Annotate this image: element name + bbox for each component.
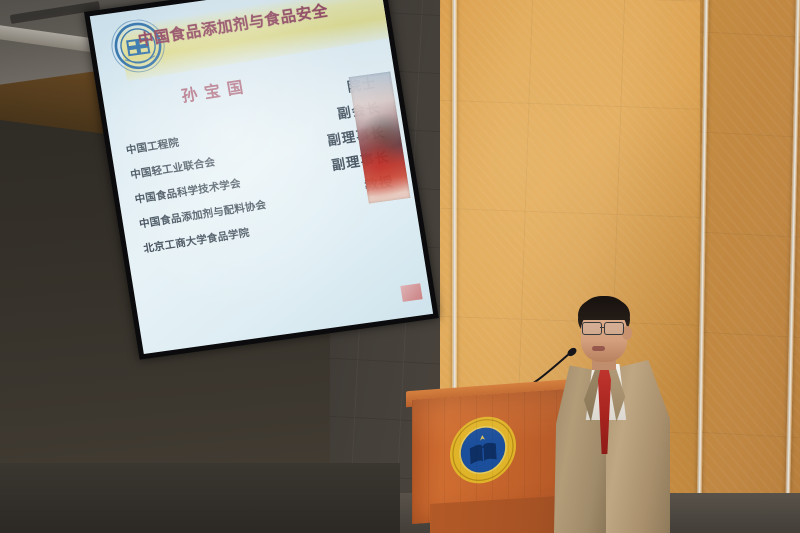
projection-screen: 中国食品添加剂与食品安全 孙宝国 中国工程院 中国轻工业联合会 中国食品科学技术… — [84, 0, 439, 360]
slide-corner-badge — [400, 283, 422, 302]
credentials-organizations: 中国工程院 中国轻工业联合会 中国食品科学技术学会 中国食品添加剂与配料协会 北… — [125, 118, 305, 266]
speaker-figure — [548, 296, 676, 533]
speaker-mouth — [592, 346, 605, 351]
slide-surface: 中国食品添加剂与食品安全 孙宝国 中国工程院 中国轻工业联合会 中国食品科学技术… — [90, 0, 433, 354]
slide-speaker-name: 孙宝国 — [179, 73, 251, 107]
eyeglasses-icon — [580, 322, 628, 333]
presentation-scene: 中国食品添加剂与食品安全 孙宝国 中国工程院 中国轻工业联合会 中国食品科学技术… — [0, 0, 800, 533]
floor-shadow-left — [0, 463, 400, 533]
screen-frame: 中国食品添加剂与食品安全 孙宝国 中国工程院 中国轻工业联合会 中国食品科学技术… — [84, 0, 439, 360]
wood-panel-wall-right — [700, 0, 800, 533]
speaker-hair-front — [578, 300, 630, 320]
university-seal-emblem-icon — [446, 409, 520, 492]
